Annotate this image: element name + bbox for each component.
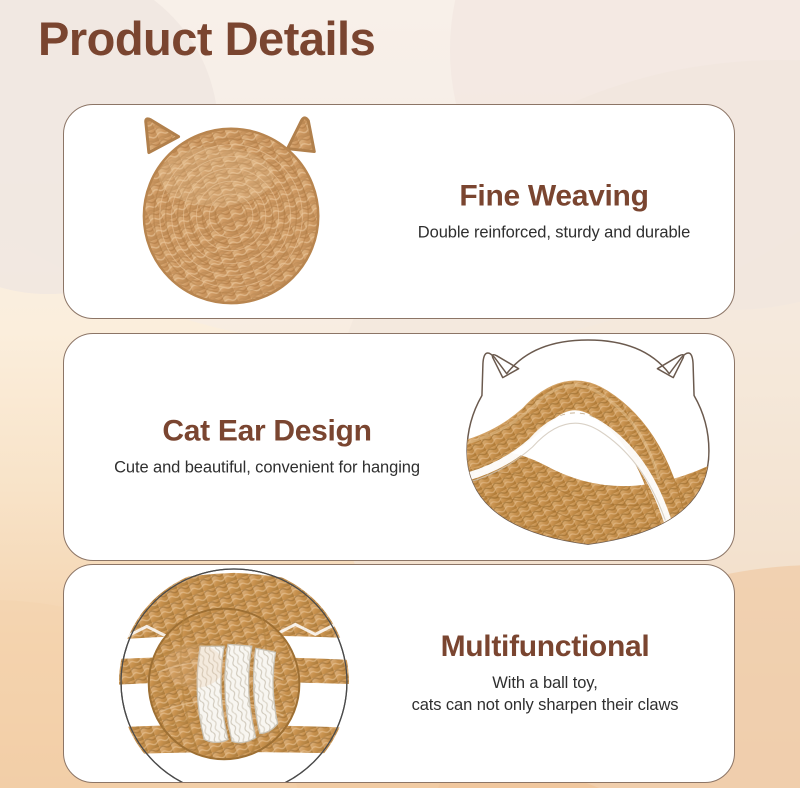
woven-cat-mat-photo: [74, 105, 404, 318]
detail-card-fine-weaving: Fine Weaving Double reinforced, sturdy a…: [63, 104, 735, 319]
card-heading: Cat Ear Design: [72, 415, 462, 449]
card-text-block: Cat Ear Design Cute and beautiful, conve…: [72, 415, 462, 480]
card-subtitle: Cute and beautiful, convenient for hangi…: [72, 457, 462, 480]
card-subtitle-line: With a ball toy,: [360, 672, 730, 695]
card-heading: Fine Weaving: [384, 179, 724, 213]
card-subtitle-line: Double reinforced, sturdy and durable: [384, 221, 724, 244]
detail-card-cat-ear-design: Cat Ear Design Cute and beautiful, conve…: [63, 333, 735, 561]
detail-card-multifunctional: Multifunctional With a ball toy, cats ca…: [63, 564, 735, 783]
rope-ball-toy-photo: [66, 565, 396, 782]
card-subtitle: With a ball toy, cats can not only sharp…: [360, 672, 730, 718]
card-subtitle-line: Cute and beautiful, convenient for hangi…: [72, 457, 462, 480]
card-text-block: Multifunctional With a ball toy, cats ca…: [360, 630, 730, 718]
card-subtitle-line: cats can not only sharpen their claws: [360, 695, 730, 718]
product-details-infographic: Product Details: [0, 0, 800, 788]
card-heading: Multifunctional: [360, 630, 730, 664]
cat-ear-closeup-illustration: [448, 334, 728, 560]
card-subtitle: Double reinforced, sturdy and durable: [384, 221, 724, 244]
page-title: Product Details: [38, 12, 375, 66]
card-text-block: Fine Weaving Double reinforced, sturdy a…: [384, 179, 724, 244]
